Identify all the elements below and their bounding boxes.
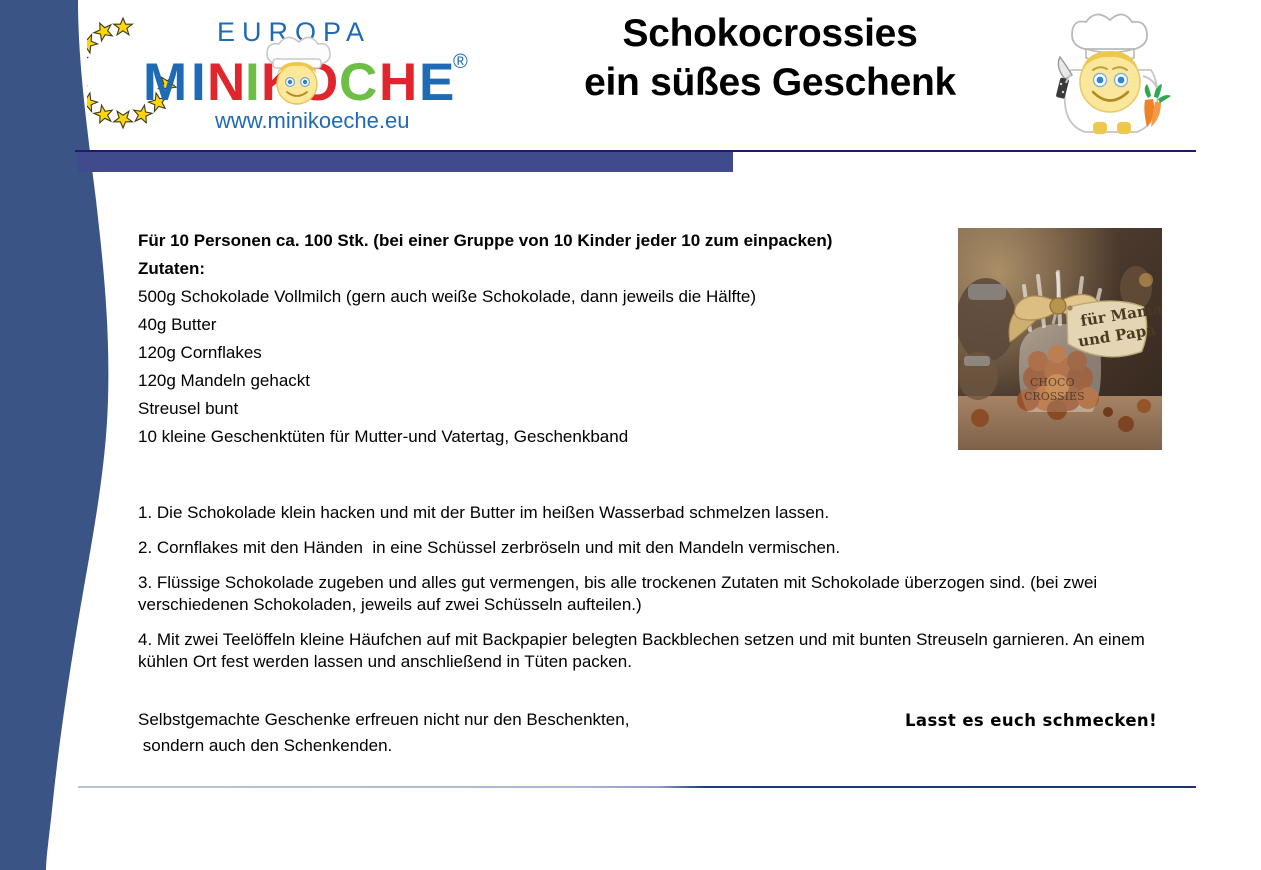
page-title-line-1: Schokocrossies xyxy=(505,10,1035,59)
page-header: EUROPA M I N I K Ö C H E ® xyxy=(75,0,1261,150)
svg-text:I: I xyxy=(245,53,260,112)
svg-text:H: H xyxy=(379,53,417,112)
serving-note: Für 10 Personen ca. 100 Stk. (bei einer … xyxy=(138,232,938,249)
ingredient-item: 120g Mandeln gehackt xyxy=(138,372,938,389)
page-title: Schokocrossies ein süßes Geschenk xyxy=(505,10,1035,108)
ingredients-heading: Zutaten: xyxy=(138,260,938,277)
ingredient-item: 10 kleine Geschenktüten für Mutter-und V… xyxy=(138,428,938,445)
ingredient-item: 40g Butter xyxy=(138,316,938,333)
europa-minikoeche-logo: EUROPA M I N I K Ö C H E ® xyxy=(87,12,497,134)
ingredient-item: Streusel bunt xyxy=(138,400,938,417)
step-item: 2. Cornflakes mit den Händen in eine Sch… xyxy=(138,537,1148,559)
svg-text:E: E xyxy=(419,53,454,112)
step-item: 4. Mit zwei Teelöffeln kleine Häufchen a… xyxy=(138,629,1148,673)
logo-website-text: www.minikoeche.eu xyxy=(214,108,409,133)
bon-appetit-note: Lasst es euch schmecken! xyxy=(905,713,1157,730)
svg-text:I: I xyxy=(191,53,206,112)
ingredients-block: Für 10 Personen ca. 100 Stk. (bei einer … xyxy=(138,232,938,445)
closing-line-2: sondern auch den Schenkenden. xyxy=(138,737,1148,754)
preparation-steps: 1. Die Schokolade klein hacken und mit d… xyxy=(138,502,1148,674)
logo-svg: EUROPA M I N I K Ö C H E ® xyxy=(87,12,497,134)
step-item: 1. Die Schokolade klein hacken und mit d… xyxy=(138,502,1148,524)
recipe-page: EUROPA M I N I K Ö C H E ® xyxy=(0,0,1261,870)
svg-text:C: C xyxy=(339,53,377,112)
closing-block: Selbstgemachte Geschenke erfreuen nicht … xyxy=(138,711,1148,754)
page-title-line-2: ein süßes Geschenk xyxy=(505,59,1035,108)
chef-mascot-icon xyxy=(1035,4,1185,144)
accent-bar xyxy=(78,152,733,172)
svg-text:M: M xyxy=(143,53,187,112)
ingredient-item: 120g Cornflakes xyxy=(138,344,938,361)
footer-divider-rule xyxy=(78,786,1196,788)
svg-text:N: N xyxy=(207,53,245,112)
carrot-icon xyxy=(1144,84,1171,127)
recipe-body: Für 10 Personen ca. 100 Stk. (bei einer … xyxy=(138,232,1158,763)
ingredient-item: 500g Schokolade Vollmilch (gern auch wei… xyxy=(138,288,938,305)
step-item: 3. Flüssige Schokolade zugeben und alles… xyxy=(138,572,1148,616)
logo-registered-mark: ® xyxy=(453,51,468,73)
